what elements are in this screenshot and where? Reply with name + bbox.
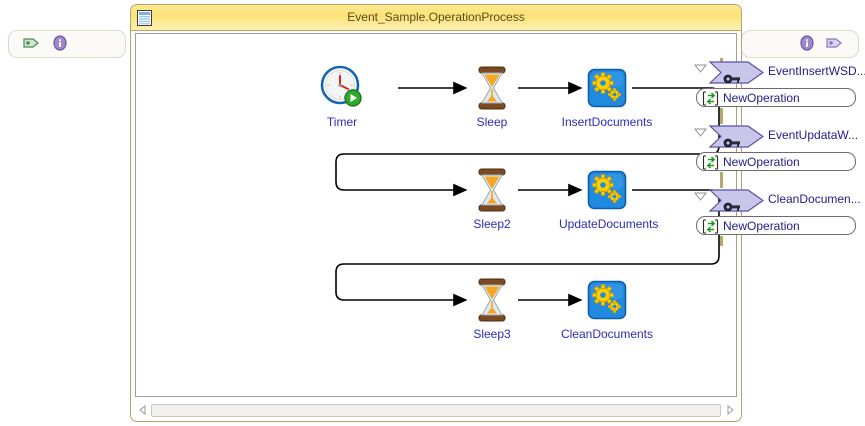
editor-titlebar: Event_Sample.OperationProcess [131,5,741,31]
node-label: Sleep3 [444,327,540,341]
partner-link-role-label: EventInsertWSD... [768,64,865,78]
partner-link-role[interactable]: EventUpdataW... [706,122,865,152]
partner-role-shape-icon [706,122,768,152]
operation-arrows-icon [702,219,719,237]
gears-icon [559,64,655,112]
process-editor-window: Event_Sample.OperationProcess [130,4,742,422]
partner-link-operation[interactable]: NewOperation [696,152,856,171]
node-timer[interactable]: Timer [294,64,390,129]
timer-clock-icon [294,64,390,112]
partner-link-operation[interactable]: NewOperation [696,88,856,107]
partner-links-panel: EventInsertWSD... NewOperation [692,58,865,243]
node-insert-documents[interactable]: InsertDocuments [559,64,655,129]
operation-arrows-icon [702,91,719,109]
node-label: UpdateDocuments [559,217,655,231]
operation-arrows-icon [702,155,719,173]
hourglass-icon [444,276,540,324]
partner-link-role[interactable]: CleanDocumen... [706,186,865,216]
node-label: Timer [294,115,390,129]
partner-link-operation-label: NewOperation [723,155,800,169]
node-update-documents[interactable]: UpdateDocuments [559,166,655,231]
partner-link-spine [720,236,723,246]
hourglass-icon [444,64,540,112]
info-icon[interactable] [53,35,67,54]
hourglass-icon [444,166,540,214]
partner-role-shape-icon [706,58,768,88]
partner-role-shape-icon [706,186,768,216]
page-title: Event_Sample.OperationProcess [131,10,741,24]
gears-icon [559,276,655,324]
scrollbar-thumb[interactable] [151,404,721,417]
partner-link-role[interactable]: EventInsertWSD... [706,58,865,88]
info-icon[interactable] [800,35,814,54]
node-label: InsertDocuments [559,115,655,129]
node-label: Sleep2 [444,217,540,231]
partner-link-role-label: CleanDocumen... [768,192,861,206]
tag-icon[interactable] [23,36,41,53]
left-palette-toolbar[interactable] [8,30,126,58]
tag-icon[interactable] [826,36,844,53]
process-canvas[interactable]: Timer Sleep [135,33,737,397]
partner-link-operation-label: NewOperation [723,91,800,105]
partner-link-role-label: EventUpdataW... [768,128,858,142]
horizontal-scrollbar[interactable] [135,401,737,419]
scroll-left-arrow-icon[interactable] [135,403,149,417]
right-palette-toolbar[interactable] [741,30,859,58]
scroll-right-arrow-icon[interactable] [723,403,737,417]
node-label: Sleep [444,115,540,129]
node-sleep[interactable]: Sleep [444,64,540,129]
partner-link-operation[interactable]: NewOperation [696,216,856,235]
gears-icon [559,166,655,214]
node-sleep3[interactable]: Sleep3 [444,276,540,341]
node-label: CleanDocuments [559,327,655,341]
partner-link-operation-label: NewOperation [723,219,800,233]
node-sleep2[interactable]: Sleep2 [444,166,540,231]
node-clean-documents[interactable]: CleanDocuments [559,276,655,341]
